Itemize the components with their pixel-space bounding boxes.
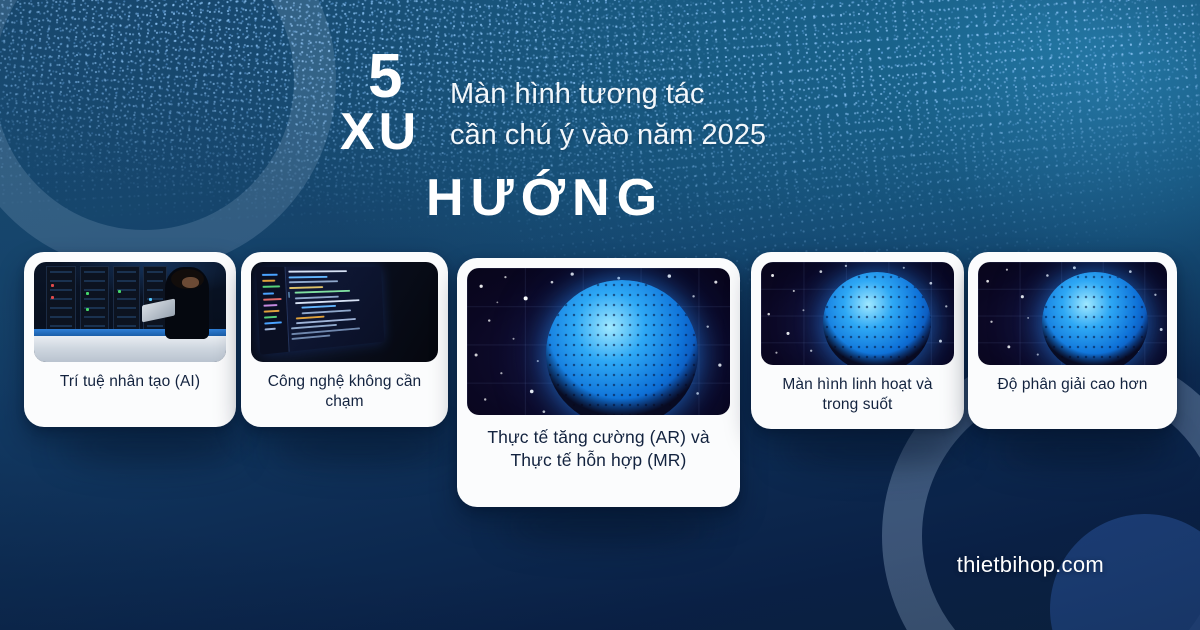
trend-card-higher-resolution[interactable]: Độ phân giải cao hơn: [968, 252, 1177, 429]
headline-block: 5 XU HƯỚNG Màn hình tương tác cần chú ý …: [0, 52, 1200, 242]
trend-card-ar-mr-thumbnail: [467, 268, 730, 415]
headline-word-xu: XU: [340, 106, 420, 158]
trend-card-touchless-caption: Công nghệ không cần chạm: [251, 362, 438, 415]
trend-card-flexible-display[interactable]: Màn hình linh hoạt và trong suốt: [751, 252, 964, 429]
binary-sphere-starfield-photo: [467, 268, 730, 415]
card-shadow-blob: [500, 508, 710, 544]
trend-card-flexible-display-thumbnail: [761, 262, 954, 365]
headline-subtitle: Màn hình tương tác cần chú ý vào năm 202…: [450, 74, 766, 156]
card-shadow-blob: [995, 432, 1171, 466]
card-shadow-blob: [270, 430, 448, 464]
subtitle-line-1: Màn hình tương tác: [450, 74, 766, 115]
trend-card-ai-thumbnail: [34, 262, 226, 362]
trend-card-higher-resolution-caption: Độ phân giải cao hơn: [993, 365, 1151, 397]
binary-sphere-starfield-photo: [978, 262, 1167, 365]
code-editor-screen-photo: [251, 262, 438, 362]
headline-number: 5: [368, 46, 402, 108]
trend-card-ai-caption: Trí tuệ nhân tạo (AI): [56, 362, 204, 394]
data-center-technician-photo: [34, 262, 226, 362]
card-shadow-blob: [780, 432, 960, 466]
trend-card-touchless[interactable]: Công nghệ không cần chạm: [241, 252, 448, 427]
trend-card-higher-resolution-thumbnail: [978, 262, 1167, 365]
infographic-poster: 5 XU HƯỚNG Màn hình tương tác cần chú ý …: [0, 0, 1200, 630]
trend-card-flexible-display-caption: Màn hình linh hoạt và trong suốt: [761, 365, 954, 418]
trend-card-ar-mr[interactable]: Thực tế tăng cường (AR) và Thực tế hỗn h…: [457, 258, 740, 507]
site-watermark: thietbihop.com: [957, 552, 1104, 578]
trend-card-ai[interactable]: Trí tuệ nhân tạo (AI): [24, 252, 236, 427]
subtitle-line-2: cần chú ý vào năm 2025: [450, 115, 766, 156]
binary-sphere-starfield-photo: [761, 262, 954, 365]
headline-word-huong: HƯỚNG: [426, 172, 664, 224]
trend-card-ar-mr-caption: Thực tế tăng cường (AR) và Thực tế hỗn h…: [467, 415, 730, 475]
trend-card-touchless-thumbnail: [251, 262, 438, 362]
card-shadow-blob: [60, 430, 240, 464]
